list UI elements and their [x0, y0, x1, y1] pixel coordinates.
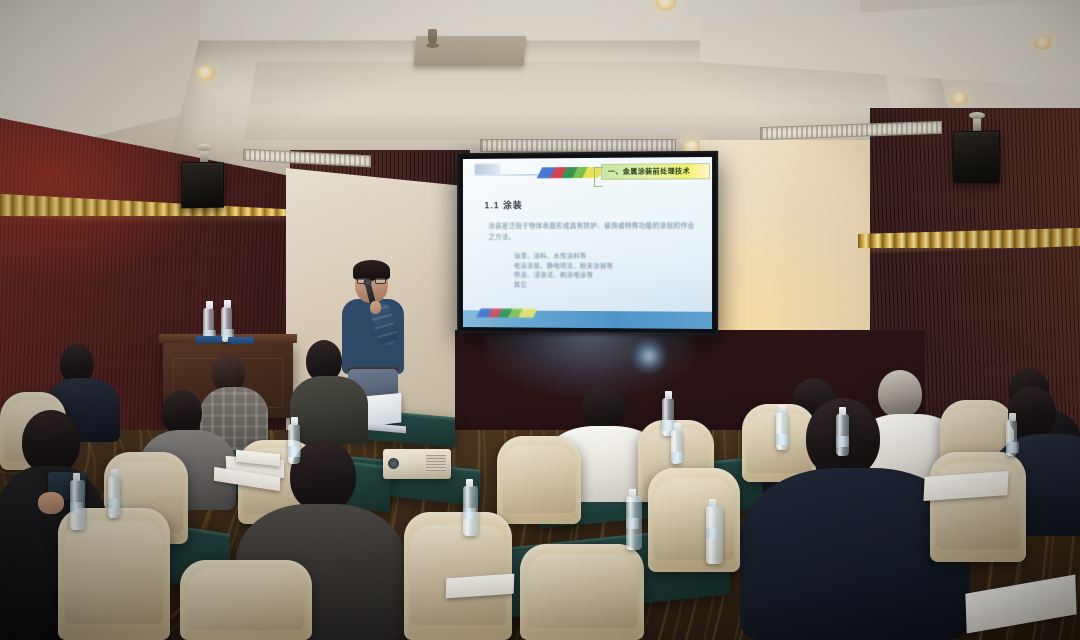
- slide-color-stripes-bottom-icon: [476, 308, 537, 317]
- conference-room-photo: 一、金属涂装前处理技术 1.1 涂装 涂装是泛指于物体表面形成具有防护、装饰或特…: [0, 0, 1080, 640]
- presenter-hand: [370, 301, 381, 314]
- slide-bullet-item: 其它: [514, 280, 694, 290]
- water-bottle-6[interactable]: [671, 430, 682, 464]
- water-bottle-9[interactable]: [836, 414, 849, 456]
- water-bottle-11[interactable]: [1006, 420, 1017, 456]
- water-bottle-8[interactable]: [776, 412, 788, 450]
- speaker-bracket-right: [973, 118, 981, 132]
- attendee-head: [22, 410, 80, 474]
- presenter-hair: [353, 260, 390, 280]
- attendee-head: [162, 390, 202, 435]
- water-bottle-4[interactable]: [626, 496, 642, 550]
- wall-speaker-left: [181, 162, 224, 209]
- slide-title-banner: 一、金属涂装前处理技术: [601, 163, 710, 180]
- slide-title-text: 一、金属涂装前处理技术: [608, 166, 690, 177]
- downlight-1: [196, 66, 216, 81]
- downlight-2: [655, 0, 677, 11]
- slide-logo-icon: [475, 164, 500, 175]
- water-bottle-10[interactable]: [108, 476, 120, 518]
- slide-bullet-list: 油漆、涂料、水性涂料等 电泳涂装、静电喷涂、粉末涂装等 喷涂、浸涂法、刷涂电泳等…: [514, 252, 694, 291]
- attendee-hand: [38, 492, 64, 514]
- water-bottle-7[interactable]: [706, 506, 723, 564]
- wall-speaker-right: [953, 130, 1000, 183]
- attendee-head: [581, 384, 625, 432]
- slide-section-heading: 1.1 涂装: [484, 198, 522, 211]
- chair-front-right[interactable]: [648, 468, 740, 572]
- water-bottle-3[interactable]: [463, 486, 478, 536]
- water-bottle-1[interactable]: [70, 480, 85, 530]
- projector-vent: [426, 455, 446, 471]
- chair-mid-center[interactable]: [497, 436, 581, 524]
- screen-glare: [463, 157, 712, 329]
- projection-screen[interactable]: 一、金属涂装前处理技术 1.1 涂装 涂装是泛指于物体表面形成具有防护、装饰或特…: [457, 151, 718, 335]
- chair-front-center-2[interactable]: [520, 544, 644, 640]
- attendee-torso: [290, 376, 368, 444]
- chair-front-left-2[interactable]: [180, 560, 312, 640]
- downlight-11: [1034, 36, 1052, 50]
- chair-front-far-right[interactable]: [930, 452, 1026, 562]
- ceiling-sprinkler: [428, 29, 437, 45]
- slide-bullet-item: 电泳涂装、静电喷涂、粉末涂装等: [514, 261, 694, 271]
- slide-paragraph: 涂装是泛指于物体表面形成具有防护、装饰或特殊功能的涂层的作业之方法。: [488, 221, 697, 243]
- air-conditioning-vent-center: [480, 139, 676, 152]
- downlight-10: [951, 92, 968, 105]
- podium-nameplate-2: [228, 337, 254, 344]
- slide-bullet-item: 喷涂、浸涂法、刷涂电泳等: [514, 271, 694, 281]
- slide-bullet-item: 油漆、涂料、水性涂料等: [514, 252, 694, 262]
- projector-lens-flare: [632, 336, 666, 376]
- slide-surface: 一、金属涂装前处理技术 1.1 涂装 涂装是泛指于物体表面形成具有防护、装饰或特…: [463, 157, 712, 329]
- podium-nameplate-1: [196, 336, 222, 343]
- water-bottle-2[interactable]: [288, 424, 300, 464]
- attendee-olive-jacket: [290, 340, 368, 444]
